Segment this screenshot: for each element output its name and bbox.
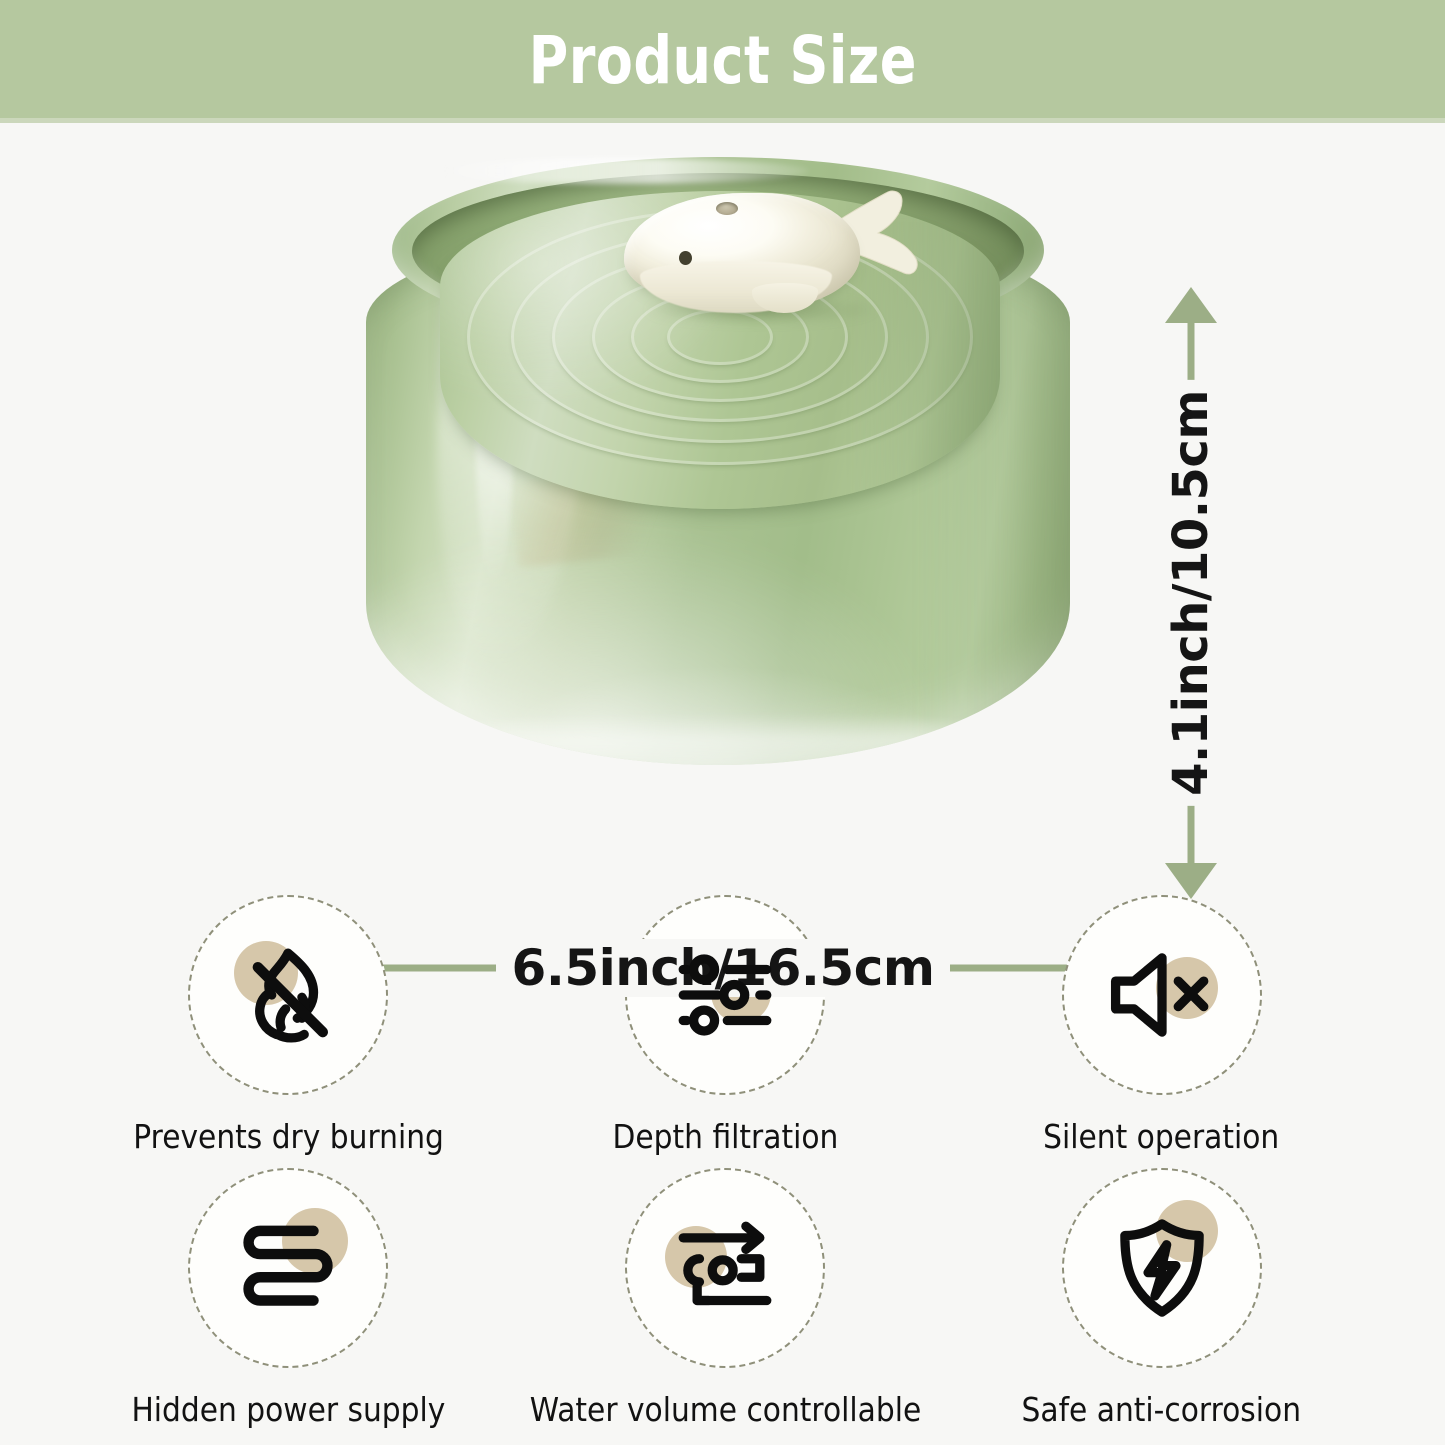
shield-bolt-icon [1104, 1210, 1220, 1326]
feature-label: Safe anti-corrosion [1022, 1392, 1302, 1428]
feature-icon-circle [1062, 1168, 1262, 1368]
feature-item: Safe anti-corrosion [943, 1168, 1380, 1441]
sliders-filter-icon [667, 937, 783, 1053]
whale-blowhole [716, 202, 738, 215]
feature-icon-circle [1062, 895, 1262, 1095]
feature-item: Silent operation [943, 895, 1380, 1168]
arrow-down-icon [1165, 863, 1217, 899]
height-dimension-arrow: 4.1inch/10.5cm [1155, 287, 1227, 899]
feature-label: Hidden power supply [131, 1392, 445, 1428]
page-header: Product Size [0, 0, 1445, 122]
feature-icon-circle [188, 1168, 388, 1368]
serpentine-cable-icon [230, 1210, 346, 1326]
flow-adjust-icon [667, 1210, 783, 1326]
product-stage: 4.1inch/10.5cm 6.5inch/16.5cm [0, 122, 1445, 862]
page-title: Product Size [528, 28, 916, 94]
feature-item: Depth filtration [507, 895, 944, 1168]
feature-label: Depth filtration [612, 1119, 838, 1155]
feature-label: Prevents dry burning [133, 1119, 444, 1155]
no-fire-icon [230, 937, 346, 1053]
feature-item: Hidden power supply [70, 1168, 507, 1441]
height-dimension-label: 4.1inch/10.5cm [1166, 380, 1216, 806]
rim-highlight [431, 158, 809, 184]
whale-eye [679, 251, 692, 265]
feature-icon-circle [625, 1168, 825, 1368]
feature-label: Silent operation [1044, 1119, 1280, 1155]
body-bottom-rim-gloss [408, 714, 1028, 763]
feature-item: Water volume controllable [507, 1168, 944, 1441]
arrow-up-icon [1165, 287, 1217, 323]
feature-label: Water volume controllable [529, 1392, 920, 1428]
feature-item: Prevents dry burning [70, 895, 507, 1168]
speaker-mute-icon [1104, 937, 1220, 1053]
whale-spout [624, 185, 920, 317]
product-image-fountain [348, 157, 1088, 777]
feature-icon-circle [188, 895, 388, 1095]
feature-grid: Prevents dry burning [70, 895, 1380, 1440]
